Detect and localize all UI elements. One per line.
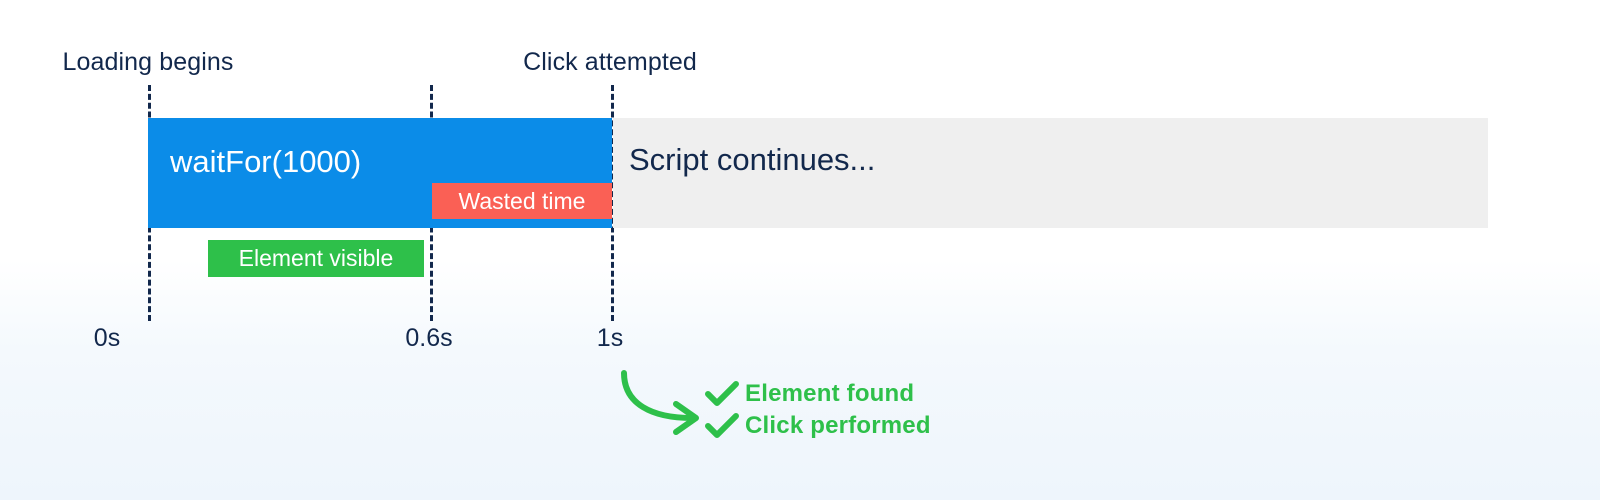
outcome-label-click-performed: Click performed	[745, 412, 931, 440]
bar-waitfor-label: waitFor(1000)	[170, 144, 361, 180]
event-label-loading-begins: Loading begins	[63, 48, 234, 77]
axis-tick-0s: 0s	[94, 324, 120, 353]
axis-tick-1s: 1s	[597, 324, 623, 353]
event-label-click-attempted: Click attempted	[523, 48, 697, 77]
curved-arrow-icon	[600, 360, 710, 435]
check-icon	[703, 413, 741, 439]
outcome-item-element-found: Element found	[703, 378, 931, 410]
bar-waitfor: waitFor(1000) Wasted time	[148, 118, 612, 228]
badge-element-visible: Element visible	[208, 240, 424, 277]
outcome-list: Element found Click performed	[703, 378, 931, 442]
timeline-diagram: Loading begins Click attempted waitFor(1…	[0, 0, 1600, 500]
badge-wasted-time: Wasted time	[432, 183, 612, 219]
check-icon	[703, 381, 741, 407]
outcome-item-click-performed: Click performed	[703, 410, 931, 442]
axis-tick-0-6s: 0.6s	[405, 324, 452, 353]
bar-script-continues: Script continues...	[613, 118, 1488, 228]
bar-script-continues-label: Script continues...	[629, 142, 875, 178]
outcome-label-element-found: Element found	[745, 380, 914, 408]
